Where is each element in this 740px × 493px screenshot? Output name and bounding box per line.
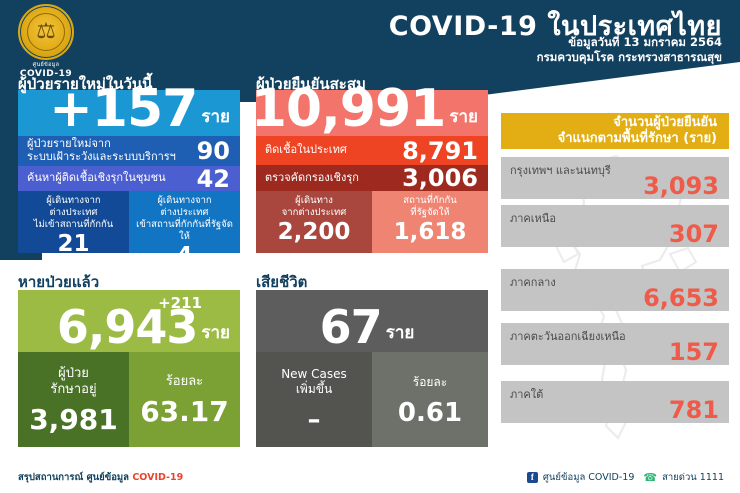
recovered-unit: ราย	[201, 319, 230, 350]
region-row-northeast: ภาคตะวันออกเฉียงเหนือ 157	[501, 323, 729, 365]
region-label-northeast: ภาคตะวันออกเฉียงเหนือ	[510, 327, 626, 345]
cumulative-split-state-quarantine: สถานที่กักกันที่รัฐจัดให้ 1,618	[372, 191, 488, 253]
thai-garuda-emblem-icon: ⚖	[18, 4, 74, 60]
footer-phone-label: สายด่วน 1111	[662, 470, 724, 485]
section-label-recovered: หายป่วยแล้ว	[18, 270, 99, 294]
footer-source: สรุปสถานการณ์ ศูนย์ข้อมูล COVID-19	[18, 470, 183, 485]
cumulative-total-band: 10,991 ราย	[256, 90, 488, 136]
infographic-stage: ⚖ ศูนย์ข้อมูล COVID-19 COVID-19 ในประเทศ…	[0, 0, 740, 493]
recovered-split-percent-value: 63.17	[140, 398, 229, 426]
deaths-split-percent-value: 0.61	[398, 400, 462, 426]
footer-contacts: f ศูนย์ข้อมูล COVID-19 ☎ สายด่วน 1111	[527, 470, 724, 485]
new-cases-row-surveillance-value: 90	[197, 139, 230, 163]
new-cases-split-state-quarantine-value: 4	[176, 245, 192, 268]
region-label-central: ภาคกลาง	[510, 273, 556, 291]
cumulative-split-from-abroad-label: ผู้เดินทางจากต่างประเทศ	[282, 195, 347, 219]
recovered-split-active-cases: ผู้ป่วยรักษาอยู่ 3,981	[18, 352, 129, 447]
cumulative-split: ผู้เดินทางจากต่างประเทศ 2,200 สถานที่กัก…	[256, 191, 488, 253]
recovered-delta: +211	[158, 294, 202, 312]
section-label-deaths: เสียชีวิต	[256, 270, 307, 294]
region-row-north: ภาคเหนือ 307	[501, 205, 729, 247]
region-row-south: ภาคใต้ 781	[501, 381, 729, 423]
deaths-total: 67	[320, 306, 382, 350]
new-cases-split-no-quarantine-value: 21	[57, 233, 89, 256]
recovered-total-band: +211 6,943 ราย	[18, 290, 240, 352]
region-value-south: 781	[669, 398, 719, 422]
section-label-new-cases: ผู้ป่วยรายใหม่ในวันนี้	[18, 72, 152, 96]
card-cumulative: 10,991 ราย ติดเชื้อในประเทศ 8,791 ตรวจคั…	[256, 90, 488, 253]
footer-source-text: สรุปสถานการณ์ ศูนย์ข้อมูล	[18, 472, 132, 483]
logo-block: ⚖ ศูนย์ข้อมูล COVID-19	[8, 4, 84, 79]
cumulative-unit: ราย	[449, 103, 478, 134]
facebook-icon[interactable]: f	[527, 472, 538, 483]
new-cases-split-state-quarantine: ผู้เดินทางจากต่างประเทศเข้าสถานที่กักกัน…	[129, 191, 240, 253]
deaths-split-percent: ร้อยละ 0.61	[372, 352, 488, 447]
region-value-north: 307	[669, 222, 719, 246]
new-cases-unit: ราย	[201, 103, 230, 134]
new-cases-row-active-screening: ค้นหาผู้ติดเชื้อเชิงรุกในชุมชน 42	[18, 166, 240, 191]
cumulative-split-state-quarantine-label: สถานที่กักกันที่รัฐจัดให้	[403, 195, 456, 219]
deaths-split: New Casesเพิ่มขึ้น – ร้อยละ 0.61	[256, 352, 488, 447]
region-value-northeast: 157	[669, 340, 719, 364]
deaths-split-new-cases: New Casesเพิ่มขึ้น –	[256, 352, 372, 447]
new-cases-row-active-screening-value: 42	[197, 167, 230, 191]
header-agency-line: กรมควบคุมโรค กระทรวงสาธารณสุข	[537, 49, 722, 67]
cumulative-row-domestic-value: 8,791	[402, 139, 478, 163]
cumulative-split-from-abroad-value: 2,200	[278, 221, 351, 244]
card-deaths: 67 ราย New Casesเพิ่มขึ้น – ร้อยละ 0.61	[256, 290, 488, 447]
regions-header: จำนวนผู้ป่วยยืนยัน จำแนกตามพื้นที่รักษา …	[501, 113, 729, 149]
footer-facebook-label: ศูนย์ข้อมูล COVID-19	[543, 470, 634, 485]
regions-header-line2: จำแนกตามพื้นที่รักษา (ราย)	[558, 131, 717, 146]
region-value-central: 6,653	[643, 286, 719, 310]
new-cases-total-band: +157 ราย	[18, 90, 240, 136]
region-value-bangkok: 3,093	[643, 174, 719, 198]
card-recovered: +211 6,943 ราย ผู้ป่วยรักษาอยู่ 3,981 ร้…	[18, 290, 240, 447]
new-cases-split-state-quarantine-label: ผู้เดินทางจากต่างประเทศเข้าสถานที่กักกัน…	[131, 195, 238, 243]
recovered-split-percent: ร้อยละ 63.17	[129, 352, 240, 447]
cumulative-split-state-quarantine-value: 1,618	[394, 221, 467, 244]
deaths-split-new-cases-value: –	[308, 407, 321, 433]
deaths-split-new-cases-label: New Casesเพิ่มขึ้น	[281, 367, 347, 397]
emblem-glyph-icon: ⚖	[20, 6, 72, 58]
recovered-split: ผู้ป่วยรักษาอยู่ 3,981 ร้อยละ 63.17	[18, 352, 240, 447]
new-cases-split-no-quarantine: ผู้เดินทางจากต่างประเทศไม่เข้าสถานที่กัก…	[18, 191, 129, 253]
cumulative-row-active-screening: ตรวจคัดกรองเชิงรุก 3,006	[256, 165, 488, 191]
region-row-bangkok: กรุงเทพฯ และนนทบุรี 3,093	[501, 157, 729, 199]
cumulative-split-from-abroad: ผู้เดินทางจากต่างประเทศ 2,200	[256, 191, 372, 253]
deaths-unit: ราย	[386, 319, 415, 350]
recovered-split-percent-label: ร้อยละ	[166, 374, 203, 390]
cumulative-row-domestic-label: ติดเชื้อในประเทศ	[265, 144, 347, 157]
new-cases-split: ผู้เดินทางจากต่างประเทศไม่เข้าสถานที่กัก…	[18, 191, 240, 253]
recovered-total: 6,943	[57, 306, 198, 350]
logo-subtitle-thai: ศูนย์ข้อมูล	[8, 61, 84, 69]
regions-header-line1: จำนวนผู้ป่วยยืนยัน	[613, 115, 717, 130]
card-new-cases: +157 ราย ผู้ป่วยรายใหม่จากระบบเฝ้าระวังแ…	[18, 90, 240, 253]
deaths-total-band: 67 ราย	[256, 290, 488, 352]
new-cases-row-active-screening-label: ค้นหาผู้ติดเชื้อเชิงรุกในชุมชน	[27, 172, 166, 185]
new-cases-row-surveillance: ผู้ป่วยรายใหม่จากระบบเฝ้าระวังและระบบบริ…	[18, 136, 240, 166]
footer-source-covid: COVID-19	[132, 472, 183, 483]
cumulative-row-active-screening-value: 3,006	[402, 166, 478, 190]
new-cases-split-no-quarantine-label: ผู้เดินทางจากต่างประเทศไม่เข้าสถานที่กัก…	[34, 195, 114, 231]
deaths-split-percent-label: ร้อยละ	[413, 375, 447, 390]
new-cases-row-surveillance-label: ผู้ป่วยรายใหม่จากระบบเฝ้าระวังและระบบบริ…	[27, 138, 176, 163]
region-label-south: ภาคใต้	[510, 385, 543, 403]
region-label-north: ภาคเหนือ	[510, 209, 556, 227]
region-label-bangkok: กรุงเทพฯ และนนทบุรี	[510, 161, 611, 179]
recovered-split-active-cases-label: ผู้ป่วยรักษาอยู่	[50, 366, 96, 399]
cumulative-row-active-screening-label: ตรวจคัดกรองเชิงรุก	[265, 172, 359, 185]
phone-icon: ☎	[643, 471, 657, 484]
region-row-central: ภาคกลาง 6,653	[501, 269, 729, 311]
section-label-cumulative: ผู้ป่วยยืนยันสะสม	[256, 72, 366, 96]
recovered-split-active-cases-value: 3,981	[29, 406, 118, 434]
cumulative-row-domestic: ติดเชื้อในประเทศ 8,791	[256, 136, 488, 165]
